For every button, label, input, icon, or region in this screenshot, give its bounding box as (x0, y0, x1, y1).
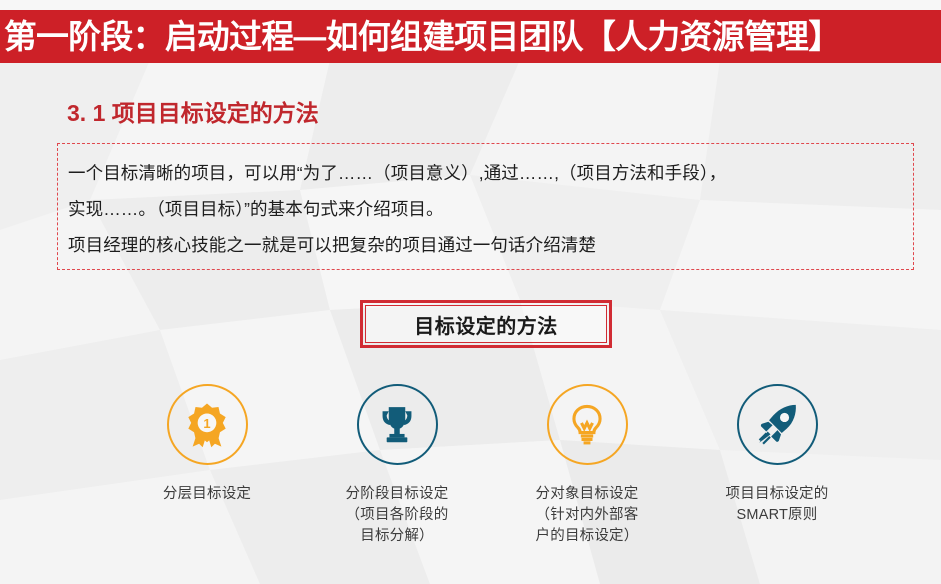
slide-title-banner: 第一阶段：启动过程—如何组建项目团队【人力资源管理】 (0, 10, 941, 63)
methods-row: 1 分层目标设定 分阶段目标设定 （项目各阶段的 (112, 384, 902, 564)
method-item-1[interactable]: 1 分层目标设定 (112, 384, 302, 564)
method-icon-circle-1: 1 (167, 384, 248, 465)
award-medal-icon: 1 (184, 402, 230, 448)
center-title-box-inner: 目标设定的方法 (365, 305, 607, 343)
section-heading: 3. 1 项目目标设定的方法 (67, 94, 319, 128)
method-label-2: 分阶段目标设定 （项目各阶段的 目标分解） (346, 484, 449, 547)
center-title-text: 目标设定的方法 (414, 310, 558, 339)
method-icon-circle-3 (547, 384, 628, 465)
description-line-1: 一个目标清晰的项目，可以用“为了……（项目意义）,通过……,（项目方法和手段）， (68, 155, 905, 191)
center-title-box: 目标设定的方法 (360, 300, 612, 348)
method-label-3: 分对象目标设定 （针对内外部客 户的目标设定） (536, 484, 639, 547)
description-line-2: 实现……。（项目目标）”的基本句式来介绍项目。 (68, 191, 905, 227)
rocket-icon (755, 402, 800, 447)
lightbulb-icon (565, 403, 609, 447)
method-item-4[interactable]: 项目目标设定的 SMART原则 (682, 384, 872, 564)
description-line-3: 项目经理的核心技能之一就是可以把复杂的项目通过一句话介绍清楚 (68, 227, 905, 263)
method-item-3[interactable]: 分对象目标设定 （针对内外部客 户的目标设定） (492, 384, 682, 564)
description-box: 一个目标清晰的项目，可以用“为了……（项目意义）,通过……,（项目方法和手段），… (57, 143, 914, 270)
slide-title-text: 第一阶段：启动过程—如何组建项目团队【人力资源管理】 (0, 20, 841, 53)
trophy-icon (375, 403, 419, 447)
method-icon-circle-2 (357, 384, 438, 465)
slide-canvas: 第一阶段：启动过程—如何组建项目团队【人力资源管理】 3. 1 项目目标设定的方… (0, 0, 941, 584)
svg-text:1: 1 (203, 415, 210, 430)
method-icon-circle-4 (737, 384, 818, 465)
method-item-2[interactable]: 分阶段目标设定 （项目各阶段的 目标分解） (302, 384, 492, 564)
method-label-1: 分层目标设定 (163, 484, 251, 505)
method-label-4: 项目目标设定的 SMART原则 (726, 484, 829, 526)
